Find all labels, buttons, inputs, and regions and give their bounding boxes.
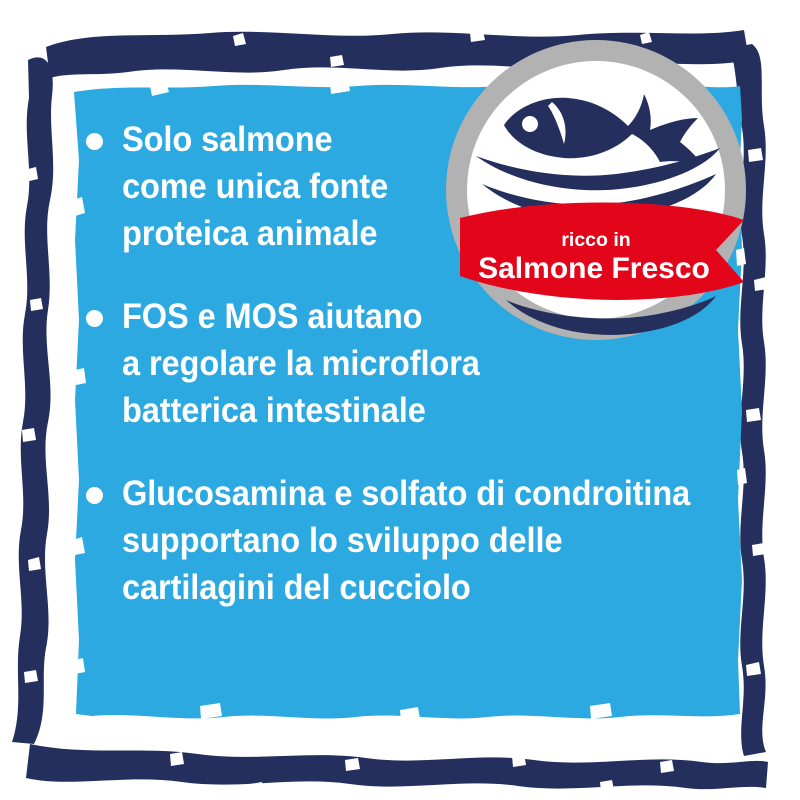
bullet-dot-icon [86, 487, 103, 504]
benefit-line: Glucosamina e solfato di condroitina [122, 470, 691, 517]
salmone-fresco-seal: ricco in Salmone Fresco [444, 38, 748, 342]
benefit-line: a regolare la microflora [122, 340, 691, 387]
benefit-text-3: Glucosamina e solfato di condroitina sup… [122, 470, 691, 611]
benefit-line: supportano lo sviluppo delle [122, 517, 691, 564]
promo-panel: Solo salmone come unica fonte proteica a… [0, 0, 800, 800]
benefit-line: cartilagini del cucciolo [122, 564, 691, 611]
ribbon-line-2: Salmone Fresco [478, 252, 710, 285]
fish-eye [522, 116, 538, 132]
bullet-dot-icon [86, 133, 103, 150]
list-item: Glucosamina e solfato di condroitina sup… [84, 470, 734, 611]
bullet-dot-icon [86, 310, 103, 327]
benefit-line: batterica intestinale [122, 387, 691, 434]
ribbon-line-1: ricco in [561, 229, 630, 251]
